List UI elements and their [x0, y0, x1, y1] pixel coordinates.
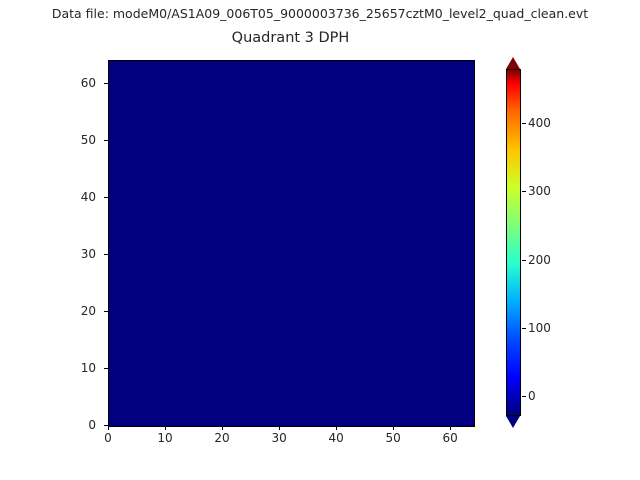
colorbar [506, 57, 522, 428]
y-tick-label: 0 [56, 418, 96, 432]
colorbar-tick-mark [522, 396, 526, 397]
y-tick-mark [104, 368, 108, 369]
y-tick-label: 30 [56, 247, 96, 261]
colorbar-extend-min-arrow [506, 416, 520, 428]
colorbar-tick-mark [522, 260, 526, 261]
y-tick-label: 60 [56, 76, 96, 90]
heatmap-axes [108, 60, 475, 427]
x-tick-label: 40 [316, 431, 356, 445]
x-tick-mark [222, 426, 223, 430]
axes-title: Quadrant 3 DPH [108, 30, 473, 46]
y-tick-label: 20 [56, 304, 96, 318]
y-tick-label: 50 [56, 133, 96, 147]
x-tick-mark [393, 426, 394, 430]
y-tick-mark [104, 425, 108, 426]
x-tick-label: 0 [88, 431, 128, 445]
x-tick-label: 30 [259, 431, 299, 445]
colorbar-tick-mark [522, 123, 526, 124]
x-tick-label: 60 [430, 431, 470, 445]
y-tick-mark [104, 140, 108, 141]
figure-suptitle: Data file: modeM0/AS1A09_006T05_90000037… [0, 6, 640, 21]
colorbar-tick-mark [522, 191, 526, 192]
colorbar-tick-label: 300 [528, 184, 551, 198]
detector-heatmap-image [109, 61, 474, 426]
colorbar-gradient [506, 69, 521, 416]
colorbar-tick-label: 0 [528, 389, 536, 403]
x-tick-mark [450, 426, 451, 430]
colorbar-tick-mark [522, 328, 526, 329]
x-tick-mark [165, 426, 166, 430]
y-tick-mark [104, 311, 108, 312]
x-tick-mark [336, 426, 337, 430]
x-tick-mark [108, 426, 109, 430]
colorbar-tick-label: 400 [528, 116, 551, 130]
y-tick-label: 40 [56, 190, 96, 204]
x-tick-label: 50 [373, 431, 413, 445]
y-tick-label: 10 [56, 361, 96, 375]
x-tick-label: 20 [202, 431, 242, 445]
colorbar-tick-label: 200 [528, 253, 551, 267]
colorbar-extend-max-arrow [506, 57, 520, 69]
matplotlib-figure: Data file: modeM0/AS1A09_006T05_90000037… [0, 0, 640, 480]
y-tick-mark [104, 254, 108, 255]
y-tick-mark [104, 83, 108, 84]
y-tick-mark [104, 197, 108, 198]
x-tick-mark [279, 426, 280, 430]
x-tick-label: 10 [145, 431, 185, 445]
colorbar-tick-label: 100 [528, 321, 551, 335]
